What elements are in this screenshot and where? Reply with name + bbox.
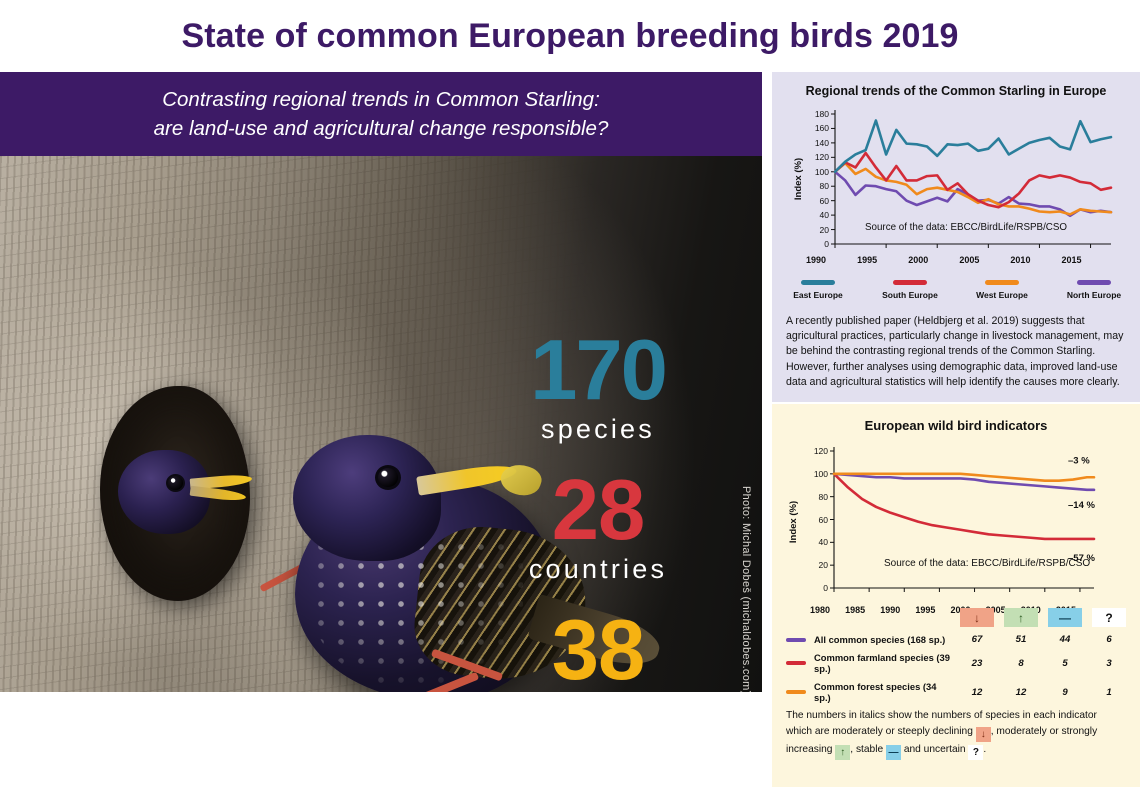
- chart-1-svg: Source of the data: EBCC/BirdLife/RSPB/C…: [791, 104, 1121, 254]
- photo-credit: Photo: Michal Dobeš (michaldobes.com): [740, 486, 752, 692]
- series-label: Common farmland species (39 sp.): [814, 652, 950, 674]
- table-cell: 3: [1092, 658, 1126, 669]
- footnote-part-5: .: [983, 744, 986, 755]
- chart-2-svg: Source of the data: EBCC/BirdLife/RSPB/C…: [786, 439, 1126, 604]
- y-axis-tick: 0: [802, 583, 828, 593]
- chart-source: Source of the data: EBCC/BirdLife/RSPB/C…: [865, 222, 1067, 233]
- table-cell: 6: [1092, 634, 1126, 645]
- down-arrow-icon: ↓: [976, 727, 991, 742]
- y-axis-tick: 0: [803, 239, 829, 249]
- chart-1-title: Regional trends of the Common Starling i…: [772, 84, 1140, 98]
- series-label: All common species (168 sp.): [814, 634, 950, 645]
- stat-label-countries: countries: [470, 554, 726, 585]
- legend-label: North Europe: [1048, 290, 1140, 300]
- stat-label-species: species: [470, 414, 726, 445]
- legend-swatch: [893, 280, 927, 285]
- y-axis-tick: 20: [802, 560, 828, 570]
- series-swatch: [786, 661, 806, 665]
- chart-2-plot: Index (%) Source of the data: EBCC/BirdL…: [786, 439, 1126, 604]
- subtitle-line-2: are land-use and agricultural change res…: [154, 114, 609, 143]
- question-icon: ?: [1092, 608, 1126, 627]
- starling-photo: 170 species 28 countries 38 years (1980–…: [0, 156, 762, 692]
- indicator-table-header: ↓↑—?: [786, 608, 1126, 627]
- table-cell: 23: [960, 658, 994, 669]
- table-cell: 51: [1004, 634, 1038, 645]
- y-axis-tick: 120: [802, 446, 828, 456]
- y-axis-tick: 180: [803, 109, 829, 119]
- table-cell: 5: [1048, 658, 1082, 669]
- legend-swatch: [801, 280, 835, 285]
- y-axis-tick: 40: [803, 210, 829, 220]
- legend-label: West Europe: [956, 290, 1048, 300]
- chart-annotation: –57 %: [1068, 553, 1095, 564]
- x-axis-tick: 2015: [1062, 255, 1082, 265]
- legend-label: East Europe: [772, 290, 864, 300]
- footnote-text: The numbers in italics show the numbers …: [786, 708, 1116, 760]
- question-icon: ?: [968, 745, 983, 760]
- indicator-table-body: All common species (168 sp.)6751446Commo…: [786, 634, 1126, 703]
- y-axis-tick: 20: [803, 225, 829, 235]
- chart-2-title: European wild bird indicators: [772, 418, 1140, 433]
- subtitle-band: Contrasting regional trends in Common St…: [0, 72, 762, 156]
- chart-1-xaxis: 199019952000200520102015: [772, 254, 1140, 280]
- title-bar: State of common European breeding birds …: [0, 0, 1140, 72]
- table-cell: 8: [1004, 658, 1038, 669]
- x-axis-tick: 1990: [806, 255, 826, 265]
- legend-swatch: [1077, 280, 1111, 285]
- poster-root: State of common European breeding birds …: [0, 0, 1140, 787]
- stat-number-years: 38: [470, 612, 726, 690]
- dash-icon: —: [1048, 608, 1082, 627]
- series-label: Common forest species (34 sp.): [814, 681, 950, 703]
- stat-number-countries: 28: [470, 472, 726, 550]
- up-arrow-icon: ↑: [835, 745, 850, 760]
- footnote-part-3: , stable: [850, 744, 883, 755]
- dash-icon: —: [886, 745, 901, 760]
- table-cell: 12: [960, 687, 994, 698]
- y-axis-tick: 40: [802, 537, 828, 547]
- y-axis-tick: 160: [803, 123, 829, 133]
- y-axis-tick: 80: [802, 492, 828, 502]
- table-cell: 44: [1048, 634, 1082, 645]
- up-arrow-icon: ↑: [1004, 608, 1038, 627]
- legend-item-2: West Europe: [956, 280, 1048, 300]
- juvenile-starling: [118, 436, 236, 546]
- legend-item-3: North Europe: [1048, 280, 1140, 300]
- y-axis-tick: 100: [803, 167, 829, 177]
- series-swatch: [786, 638, 806, 642]
- y-axis-tick: 120: [803, 152, 829, 162]
- footnote-part-4: and uncertain: [904, 744, 966, 755]
- table-cell: 67: [960, 634, 994, 645]
- table-cell: 1: [1092, 687, 1126, 698]
- chart-1-plot: Index (%) Source of the data: EBCC/BirdL…: [791, 104, 1121, 254]
- chart-annotation: –3 %: [1068, 455, 1090, 466]
- table-cell: 12: [1004, 687, 1038, 698]
- legend-item-1: South Europe: [864, 280, 956, 300]
- logo-strip: EBCC European Bird Census Council 🐦 🐦 ev…: [0, 692, 762, 787]
- indicator-table: ↓↑—? All common species (168 sp.)6751446…: [786, 608, 1126, 703]
- chart-source: Source of the data: EBCC/BirdLife/RSPB/C…: [884, 558, 1090, 569]
- table-row: Common forest species (34 sp.)121291: [786, 681, 1126, 703]
- subtitle-line-1: Contrasting regional trends in Common St…: [154, 85, 609, 114]
- x-axis-tick: 2000: [908, 255, 928, 265]
- y-axis-tick: 100: [802, 469, 828, 479]
- table-row: Common farmland species (39 sp.)23853: [786, 652, 1126, 674]
- chart-1-legend: East EuropeSouth EuropeWest EuropeNorth …: [772, 280, 1140, 300]
- chart-2-ylabel: Index (%): [788, 500, 799, 542]
- y-axis-tick: 140: [803, 138, 829, 148]
- legend-swatch: [985, 280, 1019, 285]
- legend-label: South Europe: [864, 290, 956, 300]
- y-axis-tick: 80: [803, 181, 829, 191]
- y-axis-tick: 60: [802, 515, 828, 525]
- chart-annotation: –14 %: [1068, 500, 1095, 511]
- down-arrow-icon: ↓: [960, 608, 994, 627]
- page-title: State of common European breeding birds …: [181, 17, 958, 56]
- series-swatch: [786, 690, 806, 694]
- stat-number-species: 170: [470, 332, 726, 410]
- x-axis-tick: 1995: [857, 255, 877, 265]
- table-row: All common species (168 sp.)6751446: [786, 634, 1126, 645]
- explanatory-paragraph: A recently published paper (Heldbjerg et…: [786, 314, 1126, 391]
- subtitle-text: Contrasting regional trends in Common St…: [154, 85, 609, 143]
- x-axis-tick: 2005: [959, 255, 979, 265]
- table-cell: 9: [1048, 687, 1082, 698]
- stats-block: 170 species 28 countries 38 years (1980–…: [470, 332, 726, 692]
- x-axis-tick: 2010: [1010, 255, 1030, 265]
- legend-item-0: East Europe: [772, 280, 864, 300]
- chart-1-ylabel: Index (%): [793, 158, 804, 200]
- y-axis-tick: 60: [803, 196, 829, 206]
